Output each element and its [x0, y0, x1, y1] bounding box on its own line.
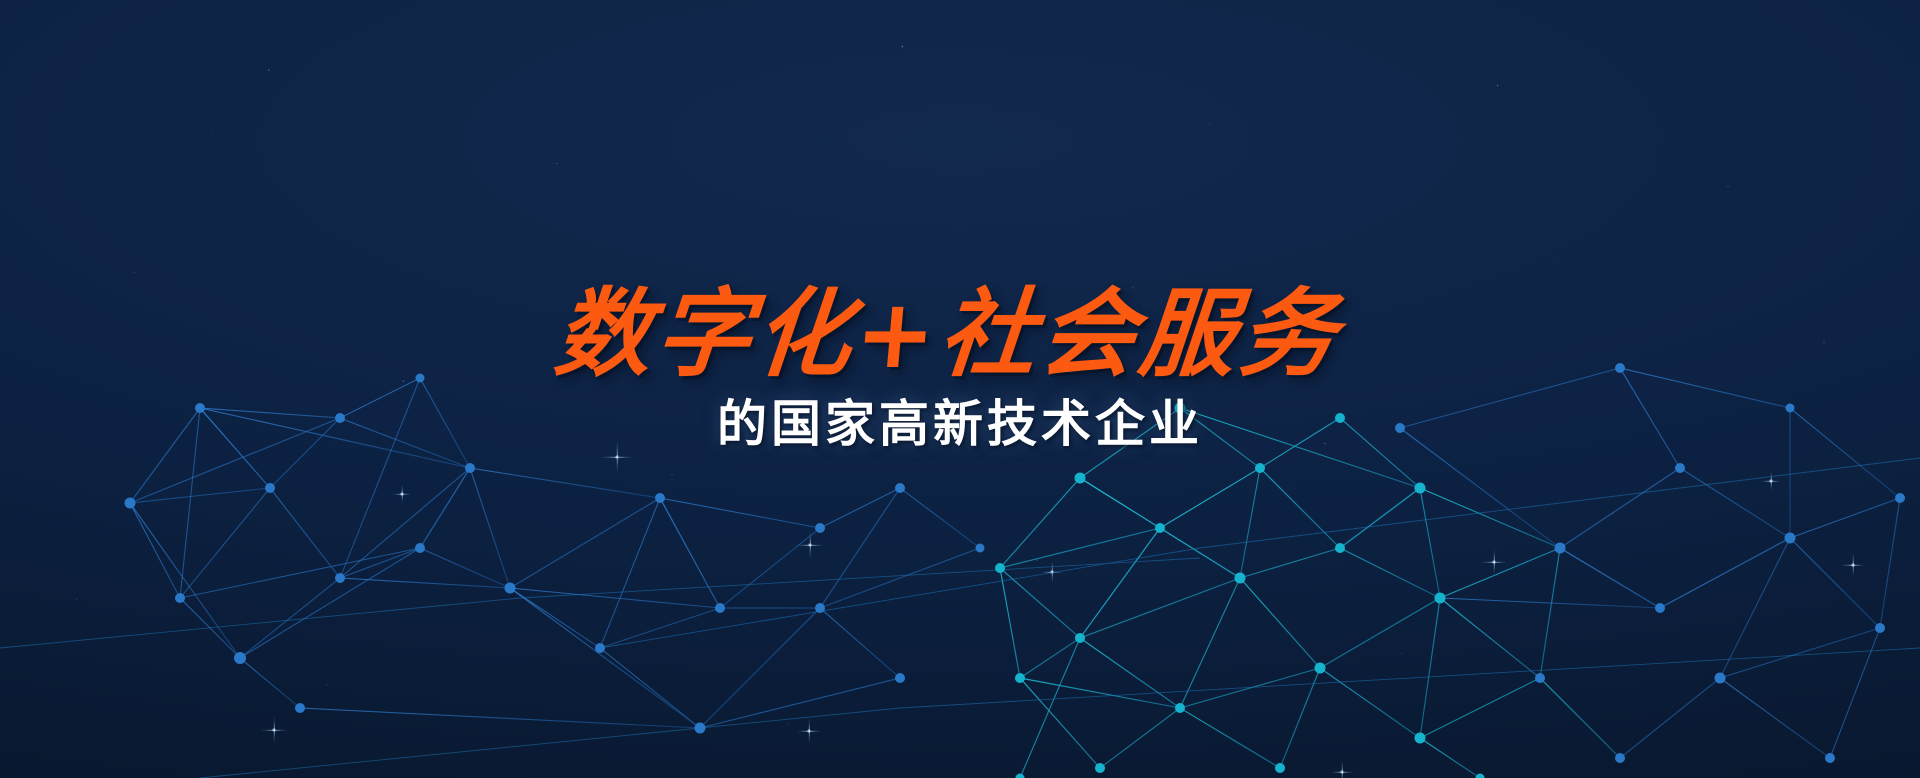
page-subtitle: 的国家高新技术企业	[0, 396, 1920, 451]
page-title: 数字化+社会服务	[0, 0, 1920, 382]
hero-text-block: 数字化+社会服务 的国家高新技术企业	[0, 0, 1920, 451]
hero-banner: 数字化+社会服务 的国家高新技术企业	[0, 0, 1920, 778]
